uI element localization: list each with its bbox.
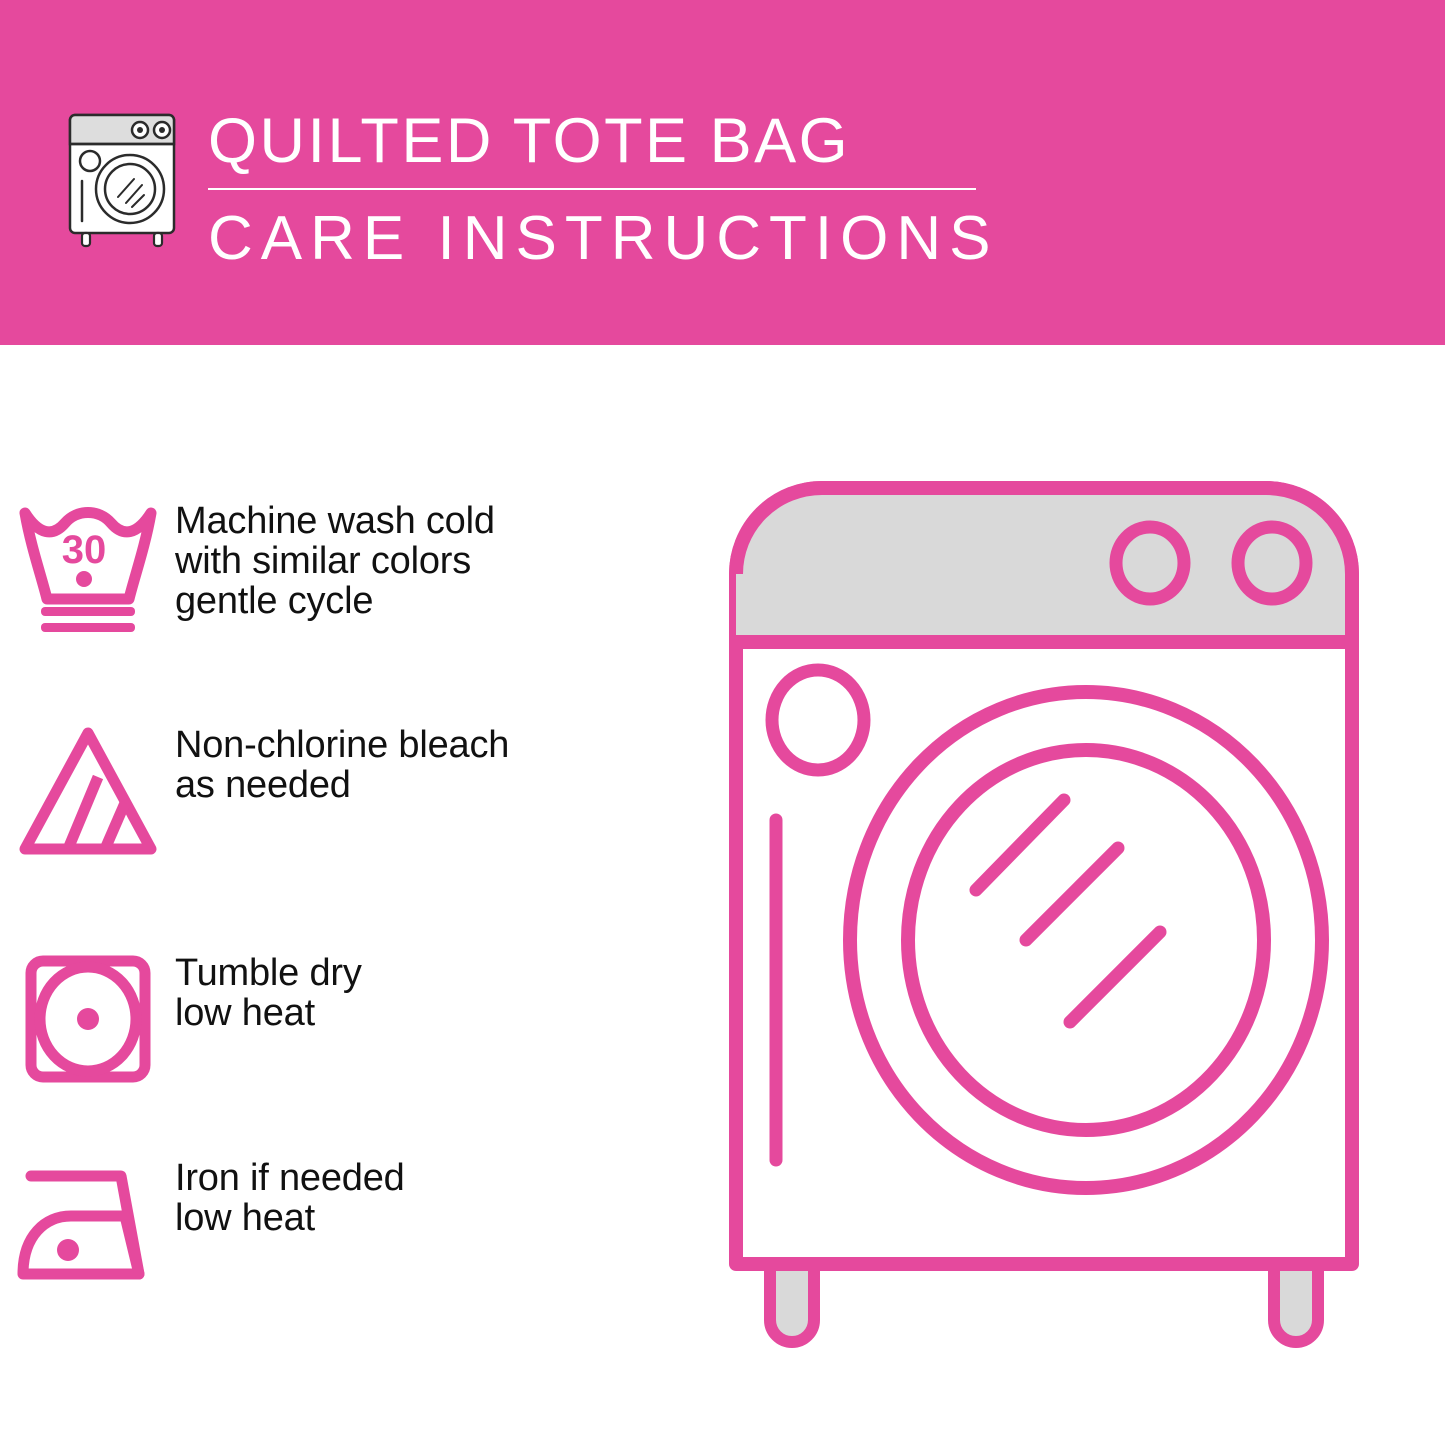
care-instruction-list: 30 Machine wash cold with similar colors… (0, 345, 700, 1445)
care-row-iron: Iron if needed low heat (0, 1150, 700, 1294)
machine-drum-inner (908, 750, 1264, 1130)
care-text-bleach: Non-chlorine bleach as needed (175, 717, 509, 805)
care-line: Tumble dry (175, 953, 362, 993)
care-text-wash: Machine wash cold with similar colors ge… (175, 493, 495, 621)
title-divider (208, 188, 976, 190)
header-text-block: QUILTED TOTE BAG CARE INSTRUCTIONS (208, 106, 998, 274)
care-text-tumble-dry: Tumble dry low heat (175, 945, 362, 1033)
care-line: low heat (175, 1198, 405, 1238)
header-banner: QUILTED TOTE BAG CARE INSTRUCTIONS (0, 0, 1445, 345)
care-text-iron: Iron if needed low heat (175, 1150, 405, 1238)
wash-tub-30-gentle-icon: 30 (0, 493, 175, 637)
care-line: as needed (175, 765, 509, 805)
machine-dispenser (772, 670, 864, 770)
care-line: Non-chlorine bleach (175, 725, 509, 765)
machine-legs (770, 1260, 1318, 1342)
iron-low-heat-icon (0, 1150, 175, 1294)
care-line: low heat (175, 993, 362, 1033)
machine-knob (1238, 527, 1306, 599)
care-line: with similar colors (175, 541, 495, 581)
care-row-tumble-dry: Tumble dry low heat (0, 945, 700, 1089)
tumble-dry-low-icon (0, 945, 175, 1089)
page-title: QUILTED TOTE BAG (208, 106, 998, 176)
washing-machine-illustration (718, 470, 1418, 1370)
care-row-wash: 30 Machine wash cold with similar colors… (0, 493, 700, 637)
page-subtitle: CARE INSTRUCTIONS (208, 204, 998, 274)
care-line: gentle cycle (175, 581, 495, 621)
machine-knob (1116, 527, 1184, 599)
care-instructions-infographic: QUILTED TOTE BAG CARE INSTRUCTIONS 30 (0, 0, 1445, 1445)
washing-machine-icon (62, 103, 190, 248)
care-line: Iron if needed (175, 1158, 405, 1198)
bleach-triangle-non-chlorine-icon (0, 717, 175, 861)
wash-temperature-label: 30 (61, 528, 106, 572)
care-row-bleach: Non-chlorine bleach as needed (0, 717, 700, 861)
care-line: Machine wash cold (175, 501, 495, 541)
